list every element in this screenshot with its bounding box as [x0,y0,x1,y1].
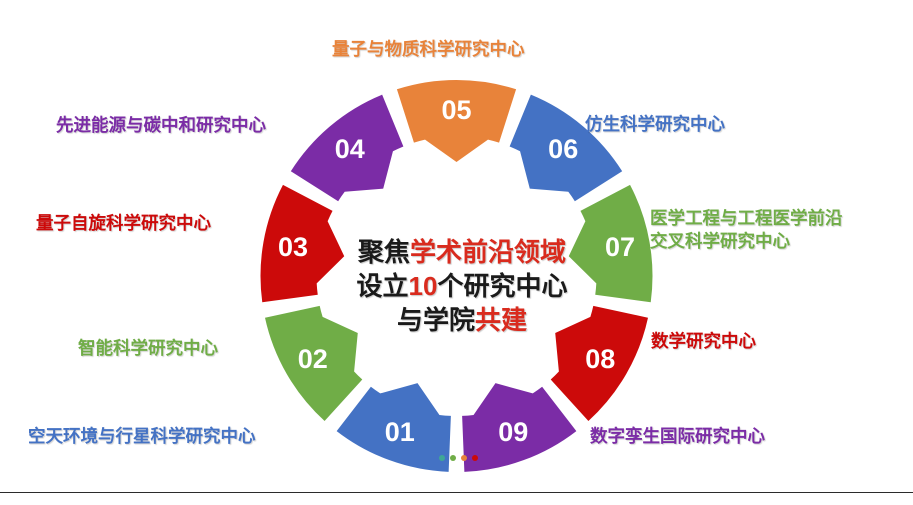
center-line-2: 设立10个研究中心 [330,270,594,304]
segment-label-01: 空天环境与行星科学研究中心 [28,425,256,448]
center-line-1-highlight: 学术前沿领域 [410,237,566,267]
segment-label-09: 数字孪生国际研究中心 [590,425,765,448]
segment-label-07: 医学工程与工程医学前沿 交叉科学研究中心 [650,207,900,253]
segment-number-06: 06 [548,134,578,164]
center-statement: 聚焦学术前沿领域 设立10个研究中心 与学院共建 [330,236,594,337]
segment-number-07: 07 [605,232,635,262]
dot-3 [450,455,456,461]
segment-label-08: 数学研究中心 [651,330,756,353]
segment-label-02: 智能科学研究中心 [78,337,218,360]
segment-number-08: 08 [585,344,615,374]
segment-label-05: 量子与物质科学研究中心 [332,38,525,61]
segment-number-05: 05 [441,95,471,125]
segment-number-01: 01 [385,417,415,447]
center-line-2-plain-a: 设立 [357,271,409,301]
center-line-1-plain: 聚焦 [358,237,410,267]
dot-2 [439,455,445,461]
segment-label-06: 仿生科学研究中心 [585,113,725,136]
center-line-2-highlight: 10 [409,271,438,301]
segment-number-09: 09 [498,417,528,447]
segment-label-03: 量子自旋科学研究中心 [36,212,211,235]
center-line-2-plain-b: 个研究中心 [437,271,567,301]
segment-label-07-line2: 交叉科学研究中心 [650,230,900,253]
dot-5 [472,455,478,461]
center-line-3-plain: 与学院 [397,305,475,335]
slide-canvas: 010203040506070809 聚焦学术前沿领域 设立10个研究中心 与学… [0,0,913,505]
segment-number-03: 03 [278,232,308,262]
segment-number-02: 02 [298,344,328,374]
decorative-dots [428,449,488,458]
center-line-3: 与学院共建 [330,304,594,338]
segment-label-04: 先进能源与碳中和研究中心 [56,114,266,137]
dot-4 [461,455,467,461]
center-line-3-highlight: 共建 [475,305,527,335]
dot-1 [428,455,434,461]
segment-number-04: 04 [335,134,365,164]
segment-label-07-line1: 医学工程与工程医学前沿 [650,207,900,230]
center-line-1: 聚焦学术前沿领域 [330,236,594,270]
slide-bottom-rule [0,492,913,493]
